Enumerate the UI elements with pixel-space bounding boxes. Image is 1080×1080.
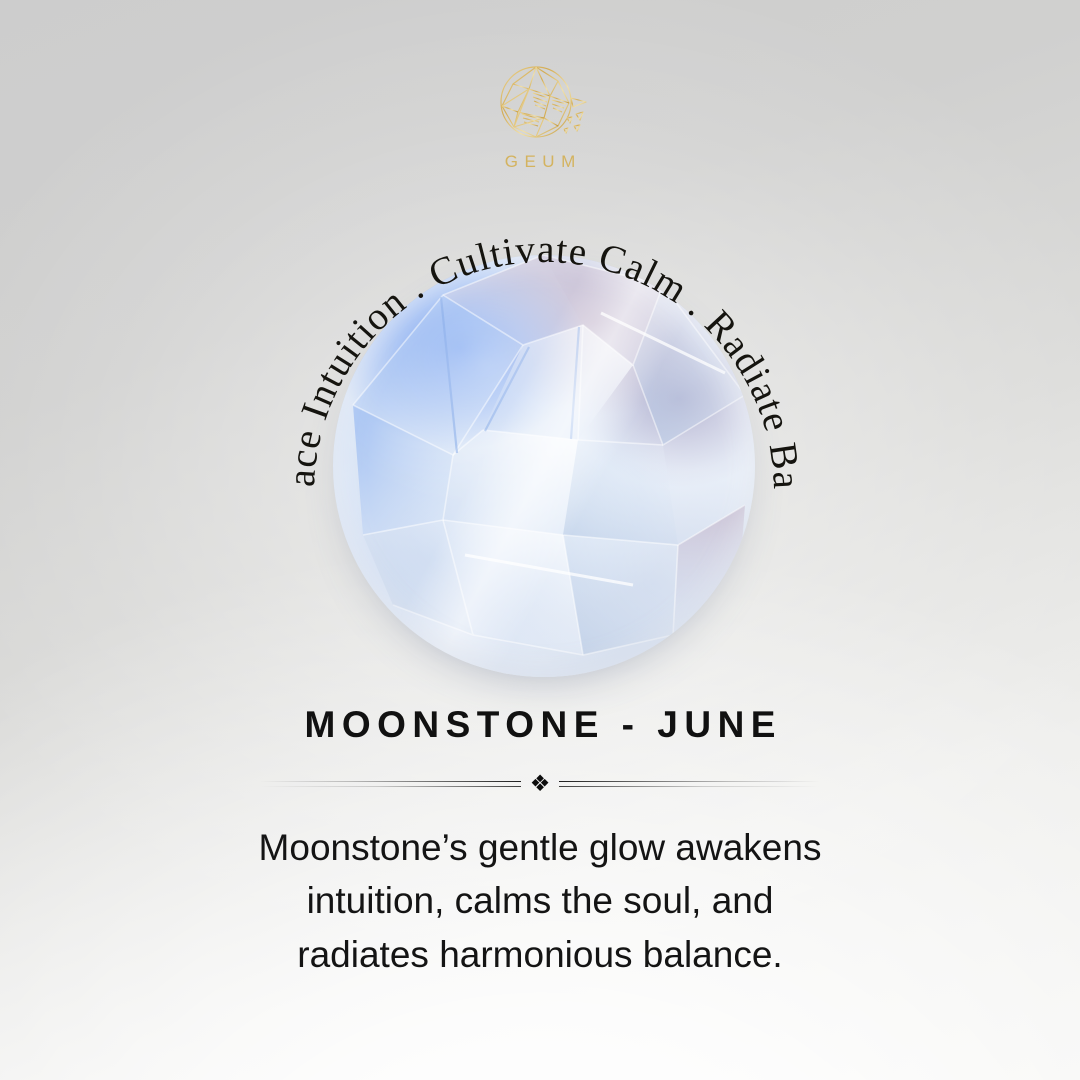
brand-logo: GEUM	[0, 56, 1080, 172]
moonstone-gem-icon	[333, 255, 755, 677]
gem-description: Moonstone’s gentle glow awakens intuitio…	[220, 821, 860, 981]
brand-wordmark: GEUM	[498, 152, 582, 172]
gemstone-info-card: GEUM	[0, 0, 1080, 1080]
diamond-ornament-icon: ❖	[530, 772, 551, 795]
divider-rule-left	[260, 781, 521, 788]
faceted-gem-circle-icon	[488, 56, 592, 148]
caption-block: MOONSTONE - JUNE ❖ Moonstone’s gentle gl…	[0, 706, 1080, 981]
decorative-divider: ❖	[260, 773, 820, 795]
page-title: MOONSTONE - JUNE	[298, 706, 782, 743]
gem-facet-lines	[333, 255, 755, 677]
gemstone-image	[333, 255, 755, 677]
divider-rule-right	[559, 781, 820, 788]
